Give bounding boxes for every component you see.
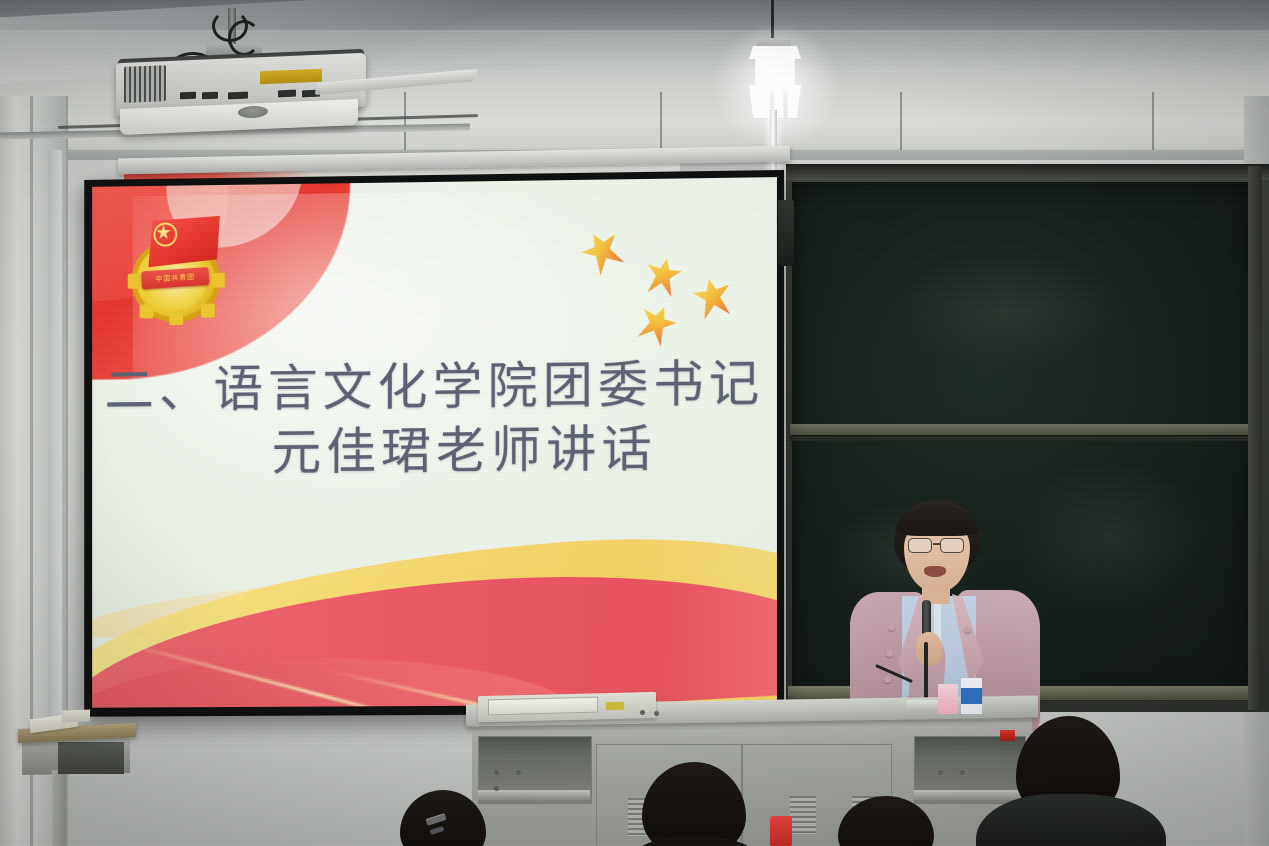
lectern-knob — [960, 770, 965, 775]
audience-center-2 — [824, 796, 954, 846]
projector-port — [228, 92, 248, 100]
emblem-gear-notch — [140, 304, 154, 318]
jacket-button — [884, 676, 891, 683]
soffit-seam — [660, 92, 662, 154]
blackboard-middle-rail — [790, 424, 1252, 435]
emblem-gear-notch — [127, 274, 141, 288]
glasses-icon — [940, 538, 964, 553]
pillar-inner-edge — [48, 150, 62, 760]
side-desk-leg — [52, 770, 66, 846]
dove-icon — [633, 300, 681, 349]
blackboard-middle-shadow — [790, 436, 1252, 441]
lectern-knob — [494, 770, 499, 775]
projector-cable-loop — [228, 20, 260, 56]
side-desk-underside — [58, 742, 124, 774]
projector-port — [202, 92, 218, 100]
pink-carton[interactable] — [938, 684, 958, 714]
slide-wave-decoration — [92, 514, 777, 707]
emblem-gear-notch — [211, 273, 225, 287]
red-bottle[interactable] — [770, 816, 792, 846]
lectern-vent — [790, 796, 816, 834]
classroom-scene: 中国共青团 二、语言文化学院团委书记 元佳珺老师讲话 — [0, 0, 1269, 846]
jacket-button — [888, 624, 895, 631]
soffit-seam — [404, 92, 406, 154]
glasses-icon — [908, 538, 932, 553]
jacket-button — [886, 650, 893, 657]
projector-warning-label — [260, 69, 322, 85]
speaker-mouth — [924, 566, 946, 577]
lectern-key-lock[interactable] — [606, 702, 624, 710]
lectern-indicator — [654, 711, 659, 716]
communist-youth-league-emblem: 中国共青团 — [127, 214, 232, 325]
audience-head — [838, 796, 934, 846]
lectern-knob — [516, 770, 521, 775]
audience-left-1 — [390, 790, 500, 846]
speaker-hand — [916, 632, 942, 666]
light-cord — [771, 0, 774, 42]
blackboard-clip — [778, 200, 794, 266]
projection-screen[interactable]: 中国共青团 二、语言文化学院团委书记 元佳珺老师讲话 — [84, 170, 784, 717]
hanging-fluorescent-light[interactable] — [749, 46, 801, 118]
slide-title-line1: 二、语言文化学院团委书记 — [104, 354, 764, 419]
blackboard-top-rail — [786, 164, 1269, 180]
dove-icon — [690, 274, 735, 320]
soffit-seam — [1152, 92, 1154, 154]
slide-title-line2: 元佳珺老师讲话 — [153, 415, 777, 485]
soffit-seam — [900, 92, 902, 154]
audience-center-1 — [630, 762, 760, 846]
glasses-bridge — [933, 543, 941, 545]
blackboard-right-edge — [1248, 166, 1262, 710]
slide-title: 二、语言文化学院团委书记 元佳珺老师讲话 — [92, 351, 777, 486]
projector-vent — [124, 65, 166, 103]
projected-slide: 中国共青团 二、语言文化学院团委书记 元佳珺老师讲话 — [92, 177, 777, 708]
audience-shoulder — [976, 794, 1166, 846]
chalk-smudge — [893, 254, 1122, 368]
audience-shoulder — [624, 836, 766, 846]
emblem-gear-notch — [201, 304, 215, 318]
projector-port — [180, 92, 196, 100]
emblem-gear-notch — [169, 311, 183, 325]
lectern-indicator — [640, 710, 645, 715]
projector-port — [278, 90, 296, 98]
audience-right-1 — [990, 716, 1220, 846]
ceiling-projector[interactable] — [110, 8, 376, 130]
jacket-button — [964, 626, 971, 633]
blue-drink-carton[interactable] — [961, 678, 982, 714]
audience-head — [642, 762, 746, 846]
desk-papers-secondary[interactable] — [62, 709, 90, 722]
lectern-knob — [938, 770, 943, 775]
lectern-control-panel[interactable] — [488, 697, 598, 716]
dove-icon — [642, 255, 683, 298]
